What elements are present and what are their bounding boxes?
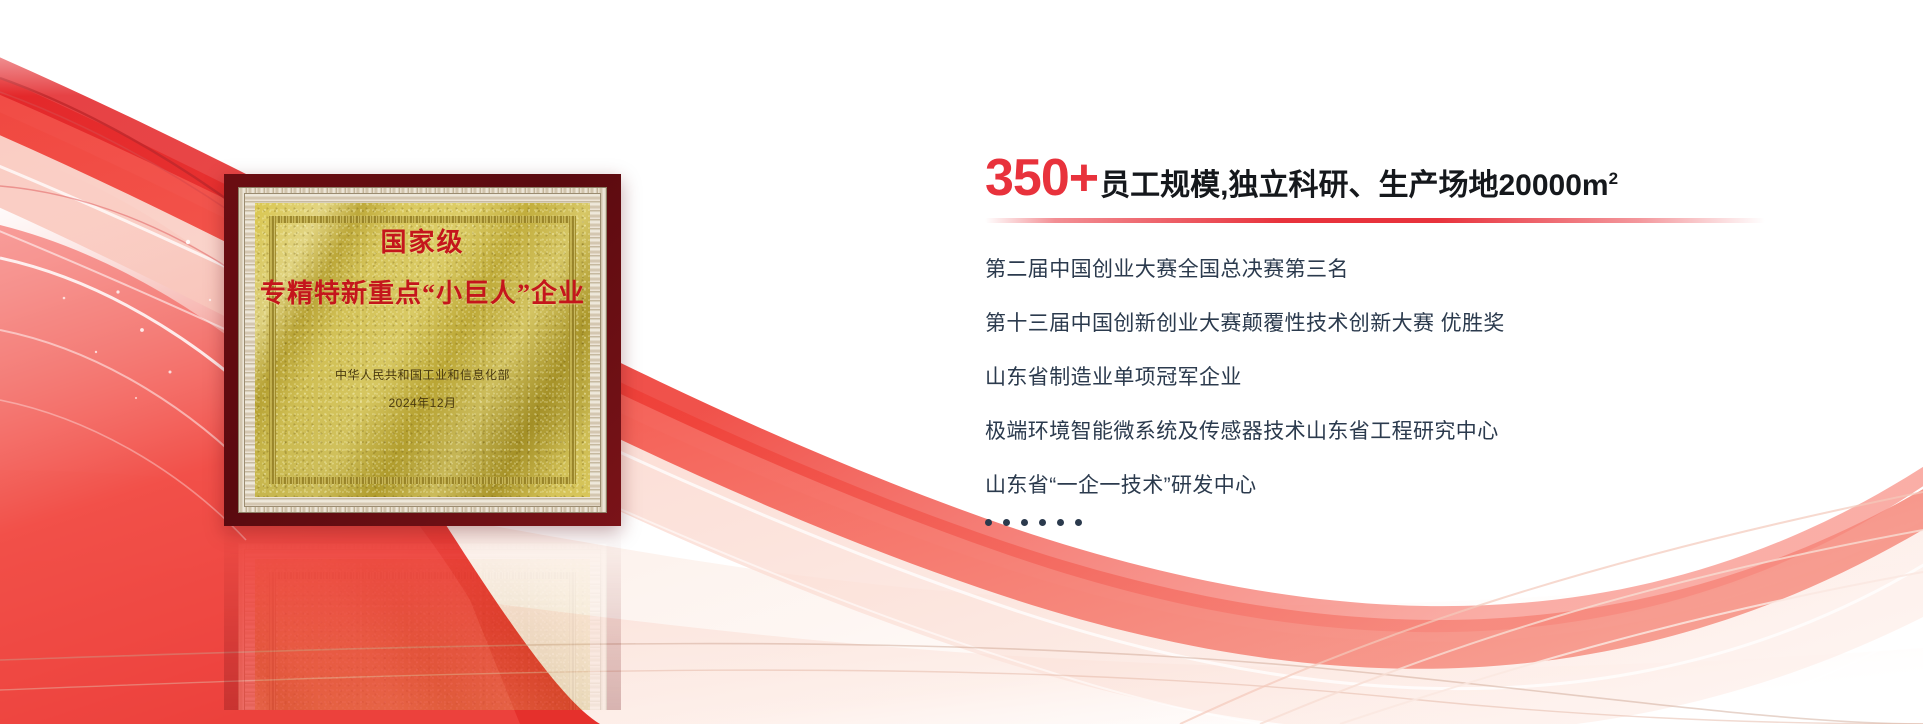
reflection-border-inner bbox=[244, 549, 601, 710]
plaque-title-line2: 专精特新重点“小巨人”企业 bbox=[260, 273, 585, 310]
ellipsis-dots bbox=[985, 519, 1815, 526]
content-column: 350+ 员工规模,独立科研、生产场地20000m2 第二届中国创业大赛全国总决… bbox=[985, 152, 1815, 526]
promo-banner: 国家级 专精特新重点“小巨人”企业 中华人民共和国工业和信息化部 2024年12… bbox=[0, 0, 1923, 724]
ellipsis-dot bbox=[985, 519, 992, 526]
plaque-reflection bbox=[224, 530, 621, 710]
reflection-outer-frame bbox=[224, 530, 621, 710]
ellipsis-dot bbox=[1003, 519, 1010, 526]
award-item: 极端环境智能微系统及传感器技术山东省工程研究中心 bbox=[985, 421, 1815, 442]
plaque-date: 2024年12月 bbox=[388, 394, 456, 411]
reflection-gold-plate bbox=[255, 559, 590, 710]
headline-text-main: 员工规模,独立科研、生产场地20000m bbox=[1100, 169, 1608, 202]
reflection-gold-texture bbox=[255, 559, 590, 710]
award-plaque: 国家级 专精特新重点“小巨人”企业 中华人民共和国工业和信息化部 2024年12… bbox=[224, 174, 621, 526]
headline-divider bbox=[985, 218, 1765, 223]
plaque-reflection-inner bbox=[224, 530, 621, 710]
plaque-issuer: 中华人民共和国工业和信息化部 bbox=[335, 366, 510, 383]
headline-superscript: 2 bbox=[1609, 169, 1618, 188]
plaque-title-line1: 国家级 bbox=[380, 222, 464, 259]
award-item: 山东省制造业单项冠军企业 bbox=[985, 367, 1815, 388]
award-item: 第十三届中国创新创业大赛颠覆性技术创新大赛 优胜奖 bbox=[985, 313, 1815, 334]
ellipsis-dot bbox=[1075, 519, 1082, 526]
award-item: 第二届中国创业大赛全国总决赛第三名 bbox=[985, 259, 1815, 280]
ellipsis-dot bbox=[1021, 519, 1028, 526]
ellipsis-dot bbox=[1039, 519, 1046, 526]
ellipsis-dot bbox=[1057, 519, 1064, 526]
headline: 350+ 员工规模,独立科研、生产场地20000m2 bbox=[985, 152, 1815, 204]
reflection-gold-inner-border bbox=[269, 572, 576, 710]
headline-text: 员工规模,独立科研、生产场地20000m2 bbox=[1100, 170, 1618, 201]
award-item: 山东省“一企一技术”研发中心 bbox=[985, 475, 1815, 496]
headline-number: 350+ bbox=[985, 152, 1098, 204]
award-list: 第二届中国创业大赛全国总决赛第三名 第十三届中国创新创业大赛颠覆性技术创新大赛 … bbox=[985, 259, 1815, 496]
plaque-text-block: 国家级 专精特新重点“小巨人”企业 中华人民共和国工业和信息化部 2024年12… bbox=[224, 174, 621, 526]
reflection-border-outer bbox=[238, 543, 607, 710]
